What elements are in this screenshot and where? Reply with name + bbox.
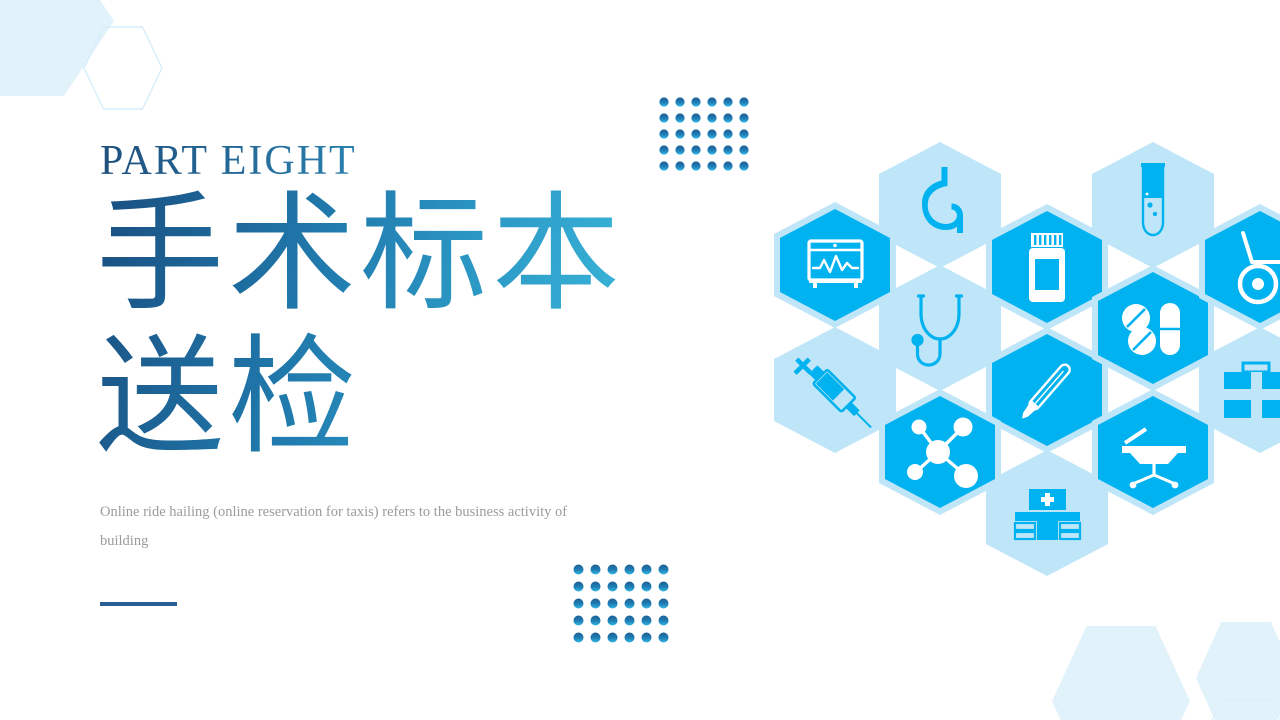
- pill-bottle-icon: [1029, 233, 1065, 302]
- hex-ecg-monitor[interactable]: [774, 202, 896, 328]
- slide-root: PART EIGHT 手术标本 送检 Online ride hailing (…: [0, 0, 1280, 720]
- hex-syringe[interactable]: [774, 327, 896, 453]
- hex-gurney[interactable]: [1092, 389, 1214, 515]
- hex-pills[interactable]: [1092, 265, 1214, 391]
- hex-thermometer[interactable]: [986, 327, 1108, 453]
- medical-hexagon-cluster: [0, 0, 1280, 720]
- hex-test-tube[interactable]: [1092, 142, 1214, 268]
- hex-molecule[interactable]: [879, 389, 1001, 515]
- hex-pill-bottle[interactable]: [986, 204, 1108, 330]
- hex-stethoscope[interactable]: [879, 265, 1001, 391]
- hex-hospital-building[interactable]: [986, 450, 1108, 576]
- hex-stomach[interactable]: [879, 142, 1001, 268]
